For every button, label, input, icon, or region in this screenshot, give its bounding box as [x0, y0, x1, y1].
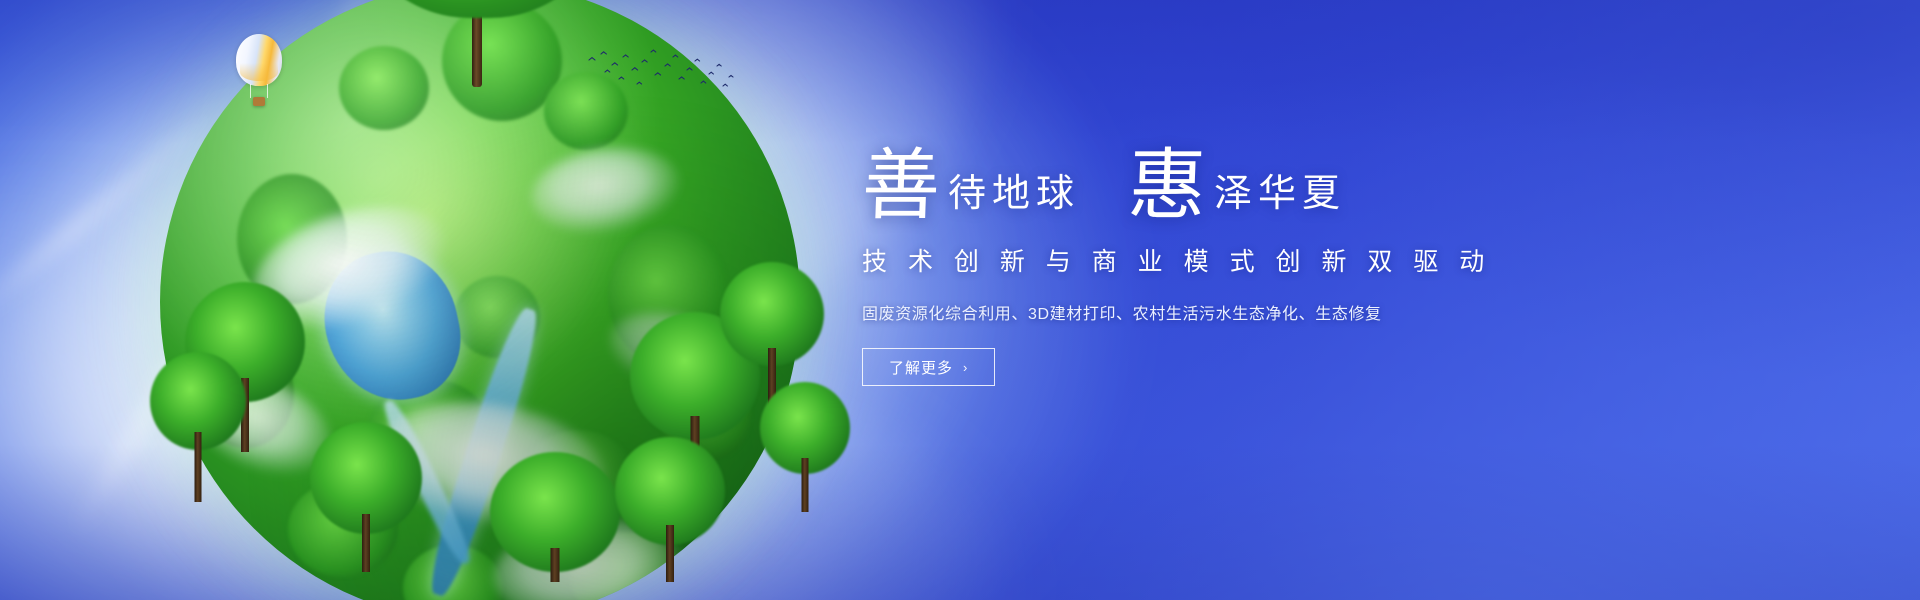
page-title: 善 待地球 惠 泽华夏	[862, 126, 1562, 222]
tree-decoration	[310, 422, 422, 572]
tree-decoration	[150, 352, 246, 502]
chevron-right-icon: ›	[963, 360, 968, 375]
tree-decoration	[615, 437, 725, 582]
headline-part-2: 惠 泽华夏	[1128, 150, 1346, 222]
headline-char-shan: 善	[861, 150, 942, 222]
hot-air-balloon-icon	[236, 34, 282, 112]
learn-more-button[interactable]: 了解更多 ›	[862, 348, 995, 386]
banner-subtitle: 技 术 创 新 与 商 业 模 式 创 新 双 驱 动	[862, 242, 1562, 278]
hero-banner: 善 待地球 惠 泽华夏 技 术 创 新 与 商 业 模 式 创 新 双 驱 动 …	[0, 0, 1920, 600]
learn-more-label: 了解更多	[889, 357, 953, 378]
tree-decoration	[490, 452, 620, 582]
headline-char-hui: 惠	[1127, 150, 1208, 222]
headline-part-1: 善 待地球	[862, 150, 1080, 222]
tree-decoration	[760, 382, 850, 512]
headline-text-daidiqiu: 待地球	[940, 175, 1080, 222]
bird-flock-icon	[585, 46, 735, 94]
banner-description: 固废资源化综合利用、3D建材打印、农村生活污水生态净化、生态修复	[862, 300, 1562, 324]
banner-content: 善 待地球 惠 泽华夏 技 术 创 新 与 商 业 模 式 创 新 双 驱 动 …	[862, 126, 1562, 386]
headline-text-zehuaxia: 泽华夏	[1206, 175, 1346, 222]
